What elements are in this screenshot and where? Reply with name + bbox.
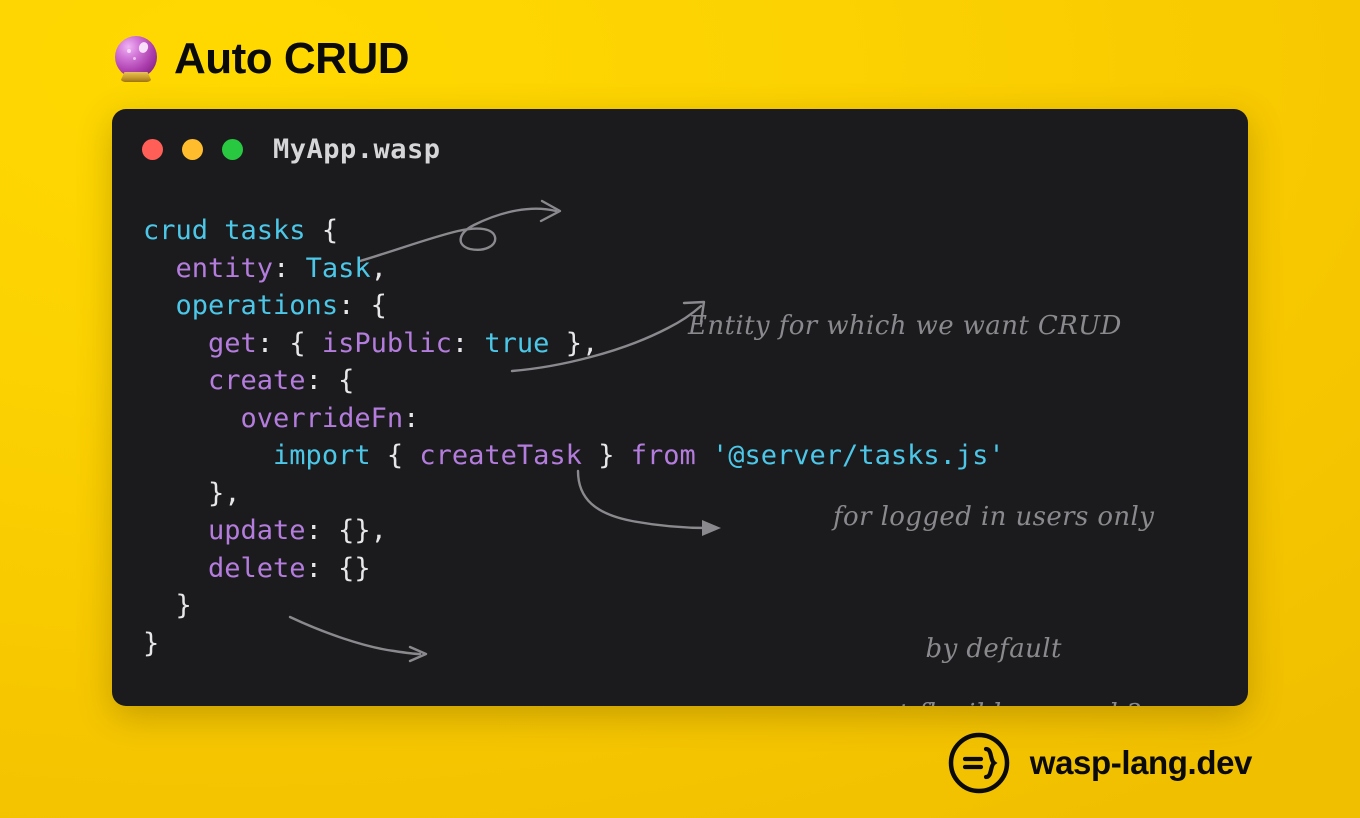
code-token — [696, 440, 712, 471]
code-token: , — [371, 253, 387, 284]
code-token: entity — [176, 253, 274, 284]
code-token: operations — [176, 290, 339, 321]
footer-label: wasp-lang.dev — [1030, 744, 1252, 782]
page-title: Auto CRUD — [174, 37, 409, 81]
code-token: } — [143, 590, 192, 621]
code-line: entity: Task, — [143, 250, 1005, 288]
code-token: get — [208, 328, 257, 359]
code-window-titlebar: MyApp.wasp — [112, 109, 1248, 189]
code-token — [143, 553, 208, 584]
page-header: Auto CRUD — [112, 26, 409, 92]
code-token: : {}, — [306, 515, 387, 546]
code-token: : — [452, 328, 485, 359]
close-button[interactable] — [142, 139, 163, 160]
code-token: : { — [306, 365, 355, 396]
code-token: crud tasks — [143, 215, 322, 246]
code-token: } — [582, 440, 631, 471]
annotation-auth-line1: for logged in users only — [833, 495, 1154, 539]
code-token: : { — [338, 290, 387, 321]
code-line: create: { — [143, 362, 1005, 400]
code-token: }, — [143, 478, 241, 509]
code-token: : — [273, 253, 306, 284]
code-token: createTask — [419, 440, 582, 471]
code-token: : {} — [306, 553, 371, 584]
code-token — [143, 253, 176, 284]
annotation-override-line1: not flexible enough? — [816, 692, 1190, 706]
code-token: isPublic — [322, 328, 452, 359]
code-window: MyApp.wasp crud tasks { entity: Task, op… — [112, 109, 1248, 706]
code-token — [143, 328, 208, 359]
code-token: true — [484, 328, 549, 359]
footer-branding[interactable]: wasp-lang.dev — [948, 732, 1252, 794]
code-token — [143, 290, 176, 321]
code-token: { — [371, 440, 420, 471]
wasp-logo-icon — [948, 732, 1010, 794]
code-token — [143, 440, 273, 471]
code-token: { — [322, 215, 338, 246]
code-token: : { — [257, 328, 322, 359]
filename-label: MyApp.wasp — [273, 134, 441, 165]
code-token: } — [143, 628, 159, 659]
code-token — [143, 515, 208, 546]
code-line: crud tasks { — [143, 212, 1005, 250]
code-token: Task — [306, 253, 371, 284]
minimize-button[interactable] — [182, 139, 203, 160]
code-token: overrideFn — [241, 403, 404, 434]
code-token: delete — [208, 553, 306, 584]
code-token — [143, 403, 241, 434]
code-token: : — [403, 403, 419, 434]
code-token: update — [208, 515, 306, 546]
annotation-entity: Entity for which we want CRUD — [688, 304, 1122, 348]
maximize-button[interactable] — [222, 139, 243, 160]
annotation-override: not flexible enough? override with custo… — [816, 604, 1190, 706]
code-token — [143, 365, 208, 396]
crystal-ball-icon — [112, 35, 160, 83]
code-token: create — [208, 365, 306, 396]
code-token: import — [273, 440, 371, 471]
code-token: }, — [549, 328, 598, 359]
code-token: from — [631, 440, 696, 471]
